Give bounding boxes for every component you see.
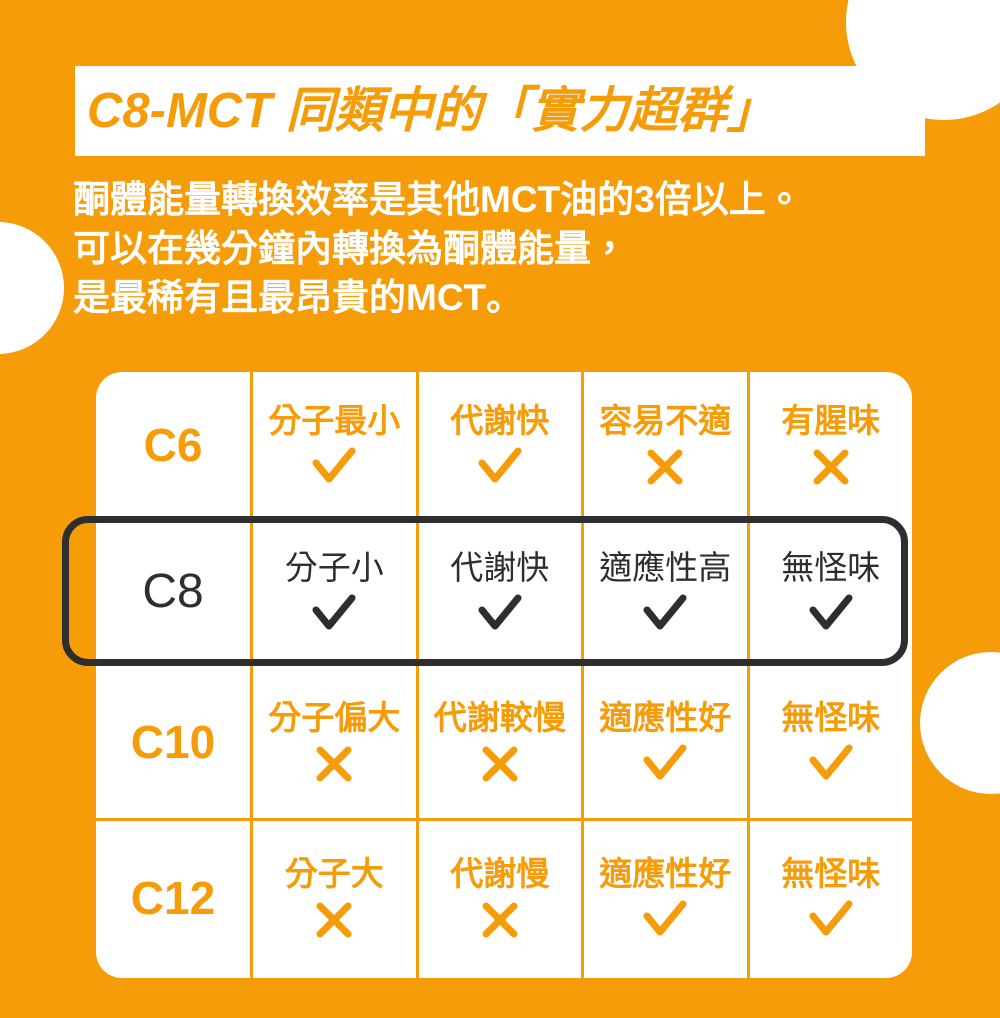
check-icon [477, 594, 523, 634]
table-cell: 有腥味 [747, 372, 913, 518]
cell-label: 無怪味 [781, 857, 880, 890]
comparison-table: C6分子最小代謝快容易不適有腥味C8分子小代謝快適應性高無怪味C10分子偏大代謝… [96, 372, 912, 978]
row-header-cell: C10 [96, 666, 250, 818]
cell-label: 代謝快 [450, 551, 549, 584]
row-header-cell: C6 [96, 372, 250, 518]
poster-root: C8-MCT 同類中的「實力超群」 酮體能量轉換效率是其他MCT油的3倍以上。 … [0, 0, 1000, 1018]
cell-label: 適應性好 [599, 857, 731, 890]
cell-label: 分子偏大 [268, 701, 400, 734]
table-cell: 適應性好 [581, 818, 747, 978]
subtitle-line-1: 酮體能量轉換效率是其他MCT油的3倍以上。 [73, 176, 953, 225]
cross-icon [314, 900, 354, 940]
cell-label: 代謝較慢 [434, 701, 566, 734]
check-icon [642, 594, 688, 634]
row-header-cell: C12 [96, 818, 250, 978]
cross-icon [314, 744, 354, 784]
decorative-circle-left-icon [0, 222, 64, 354]
row-label: C6 [144, 422, 203, 468]
table-cell: 代謝慢 [416, 818, 582, 978]
row-separator [96, 818, 912, 821]
table-row: C12分子大代謝慢適應性好無怪味 [96, 818, 912, 978]
table-cell: 代謝快 [416, 518, 582, 666]
check-icon [808, 900, 854, 940]
cell-label: 無怪味 [781, 551, 880, 584]
table-cell: 無怪味 [747, 518, 913, 666]
row-label: C8 [142, 568, 203, 616]
table-row: C8分子小代謝快適應性高無怪味 [96, 518, 912, 666]
check-icon [477, 447, 523, 487]
subtitle-line-2: 可以在幾分鐘內轉換為酮體能量， [73, 225, 953, 274]
cell-label: 無怪味 [781, 701, 880, 734]
check-icon [808, 594, 854, 634]
cell-label: 適應性好 [599, 701, 731, 734]
table-cell: 無怪味 [747, 818, 913, 978]
table-row: C6分子最小代謝快容易不適有腥味 [96, 372, 912, 518]
table-cell: 代謝快 [416, 372, 582, 518]
table-grid: C6分子最小代謝快容易不適有腥味C8分子小代謝快適應性高無怪味C10分子偏大代謝… [96, 372, 912, 978]
cross-icon [480, 900, 520, 940]
title-banner: C8-MCT 同類中的「實力超群」 [75, 66, 925, 156]
cell-label: 適應性高 [599, 551, 731, 584]
cell-label: 代謝慢 [450, 857, 549, 890]
check-icon [311, 447, 357, 487]
row-header-cell: C8 [96, 518, 250, 666]
table-cell: 分子小 [250, 518, 416, 666]
cell-label: 代謝快 [450, 404, 549, 437]
subtitle-block: 酮體能量轉換效率是其他MCT油的3倍以上。 可以在幾分鐘內轉換為酮體能量， 是最… [73, 176, 953, 322]
check-icon [642, 744, 688, 784]
table-row: C10分子偏大代謝較慢適應性好無怪味 [96, 666, 912, 818]
cross-icon [645, 447, 685, 487]
page-title: C8-MCT 同類中的「實力超群」 [87, 87, 776, 136]
cell-label: 分子大 [285, 857, 384, 890]
subtitle-line-3: 是最稀有且最昂貴的MCT。 [73, 274, 953, 323]
cross-icon [811, 447, 851, 487]
table-cell: 適應性好 [581, 666, 747, 818]
check-icon [311, 594, 357, 634]
decorative-circle-right-icon [920, 652, 1000, 794]
table-cell: 分子大 [250, 818, 416, 978]
cell-label: 容易不適 [599, 404, 731, 437]
table-cell: 分子最小 [250, 372, 416, 518]
cell-label: 分子小 [285, 551, 384, 584]
row-label: C12 [131, 875, 215, 921]
check-icon [642, 900, 688, 940]
table-cell: 分子偏大 [250, 666, 416, 818]
cross-icon [480, 744, 520, 784]
check-icon [808, 744, 854, 784]
table-cell: 代謝較慢 [416, 666, 582, 818]
table-cell: 無怪味 [747, 666, 913, 818]
table-cell: 容易不適 [581, 372, 747, 518]
table-cell: 適應性高 [581, 518, 747, 666]
cell-label: 有腥味 [781, 404, 880, 437]
cell-label: 分子最小 [268, 404, 400, 437]
row-label: C10 [131, 719, 215, 765]
